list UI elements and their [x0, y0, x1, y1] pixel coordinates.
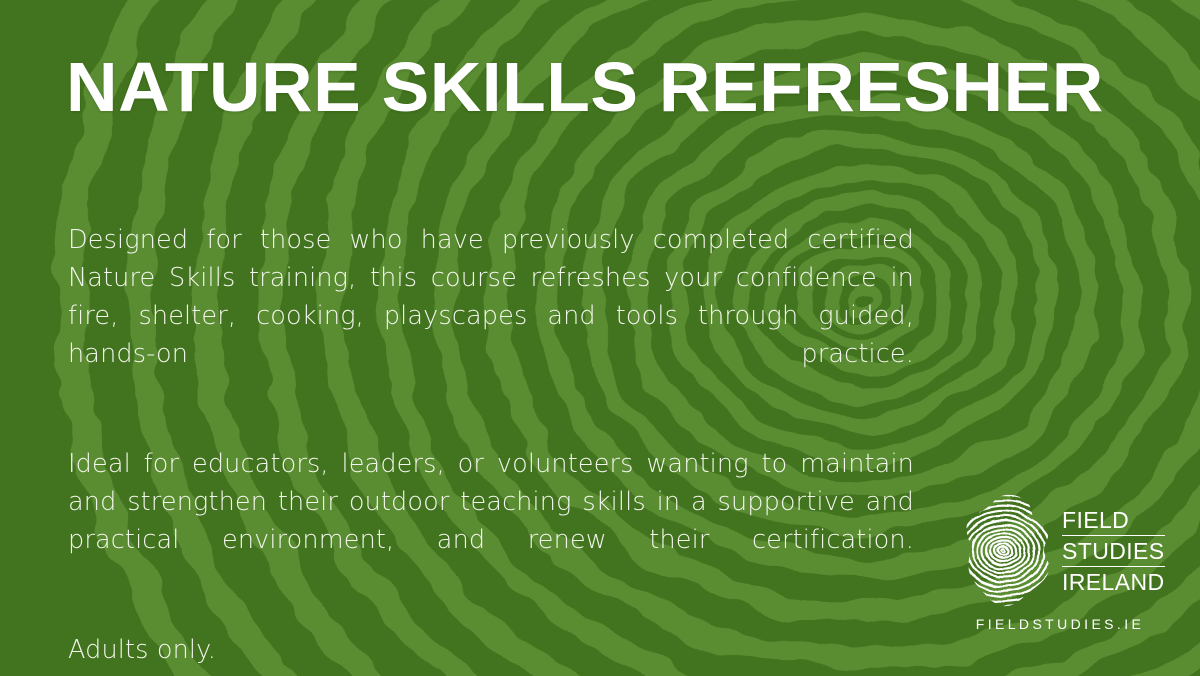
logo-row: FIELD STUDIES IRELAND [962, 492, 1158, 610]
paragraph-adults-only: Adults only. [68, 631, 914, 669]
page-title: NATURE SKILLS REFRESHER [66, 52, 1157, 122]
paragraph-designed-for: Designed for those who have previously c… [68, 221, 914, 411]
body-copy: Designed for those who have previously c… [68, 221, 914, 669]
logo-website-url: FIELDSTUDIES.IE [962, 616, 1158, 632]
field-studies-ireland-logo: FIELD STUDIES IRELAND FIELDSTUDIES.IE [962, 492, 1158, 644]
paragraph-ideal-for: Ideal for educators, leaders, or volunte… [68, 445, 914, 597]
logo-line-ireland: IRELAND [1062, 566, 1165, 597]
logo-line-studies: STUDIES [1062, 535, 1165, 566]
poster-canvas: NATURE SKILLS REFRESHER Designed for tho… [0, 0, 1200, 676]
ireland-fingerprint-rings-icon [962, 493, 1054, 609]
logo-line-field: FIELD [1062, 505, 1165, 535]
logo-wordmark: FIELD STUDIES IRELAND [1062, 505, 1165, 597]
